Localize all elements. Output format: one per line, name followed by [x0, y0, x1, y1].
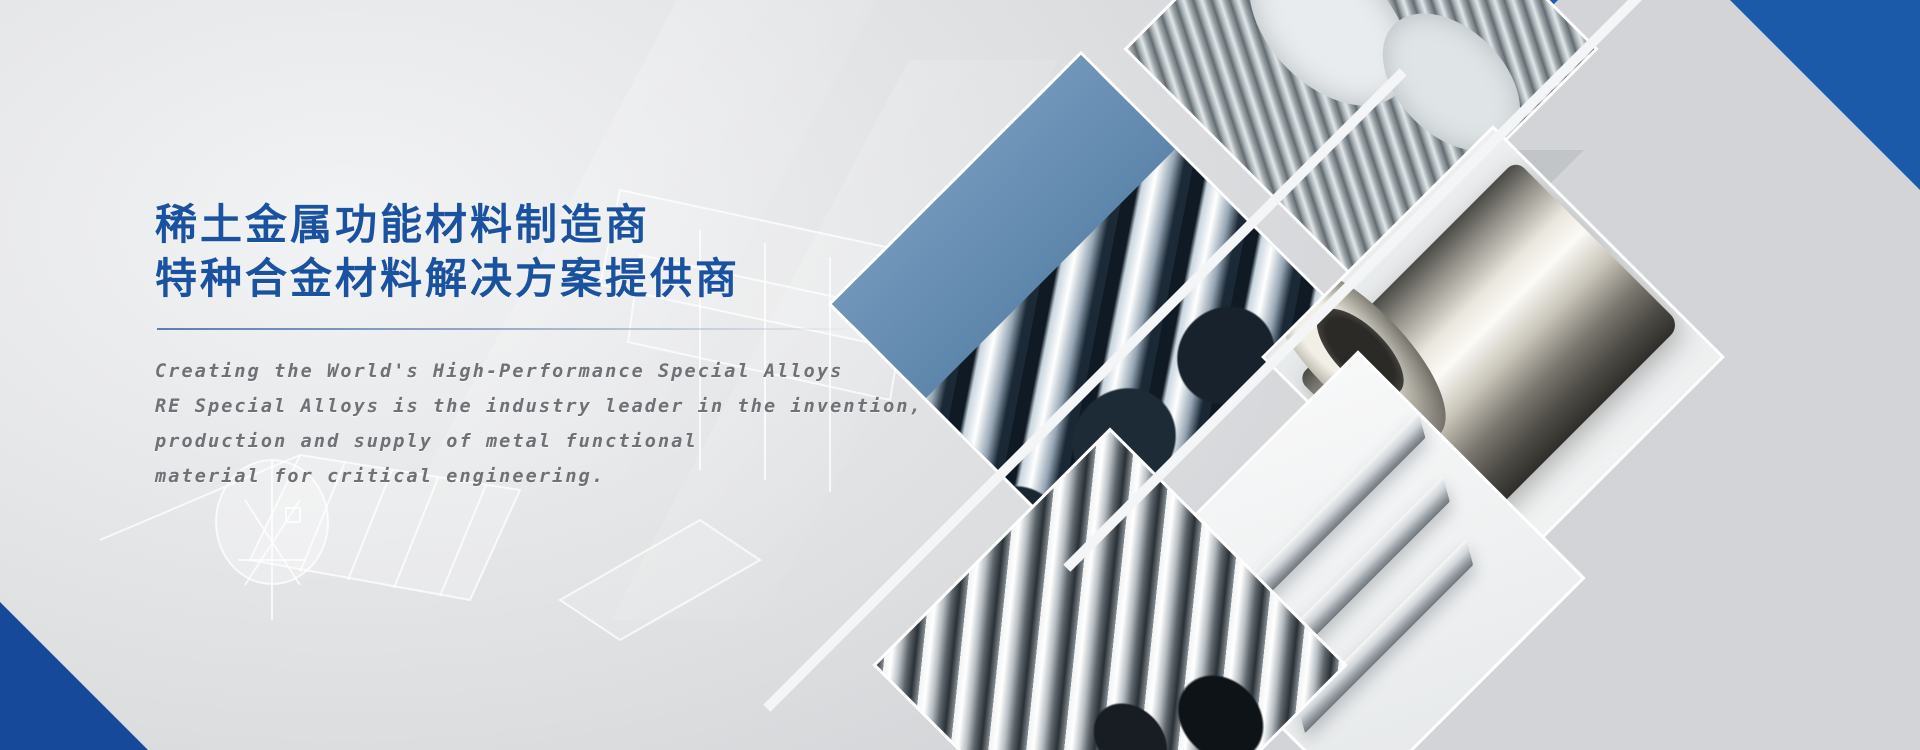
- subtitle-line-2: RE Special Alloys is the industry leader…: [155, 389, 915, 424]
- hero-banner: 稀土金属功能材料制造商 特种合金材料解决方案提供商 Creating the W…: [0, 0, 1920, 750]
- headline-line-2: 特种合金材料解决方案提供商: [155, 252, 915, 306]
- hero-text-block: 稀土金属功能材料制造商 特种合金材料解决方案提供商 Creating the W…: [155, 198, 915, 494]
- blue-corner-accent-bottom-left: [0, 602, 148, 750]
- headline-line-1: 稀土金属功能材料制造商: [155, 198, 915, 252]
- subtitle-line-1: Creating the World's High-Performance Sp…: [155, 354, 915, 389]
- headline-divider: [157, 328, 863, 330]
- subtitle-line-4: material for critical engineering.: [155, 459, 915, 494]
- subtitle-line-3: production and supply of metal functiona…: [155, 424, 915, 459]
- blue-corner-accent-top-right: [1730, 0, 1920, 190]
